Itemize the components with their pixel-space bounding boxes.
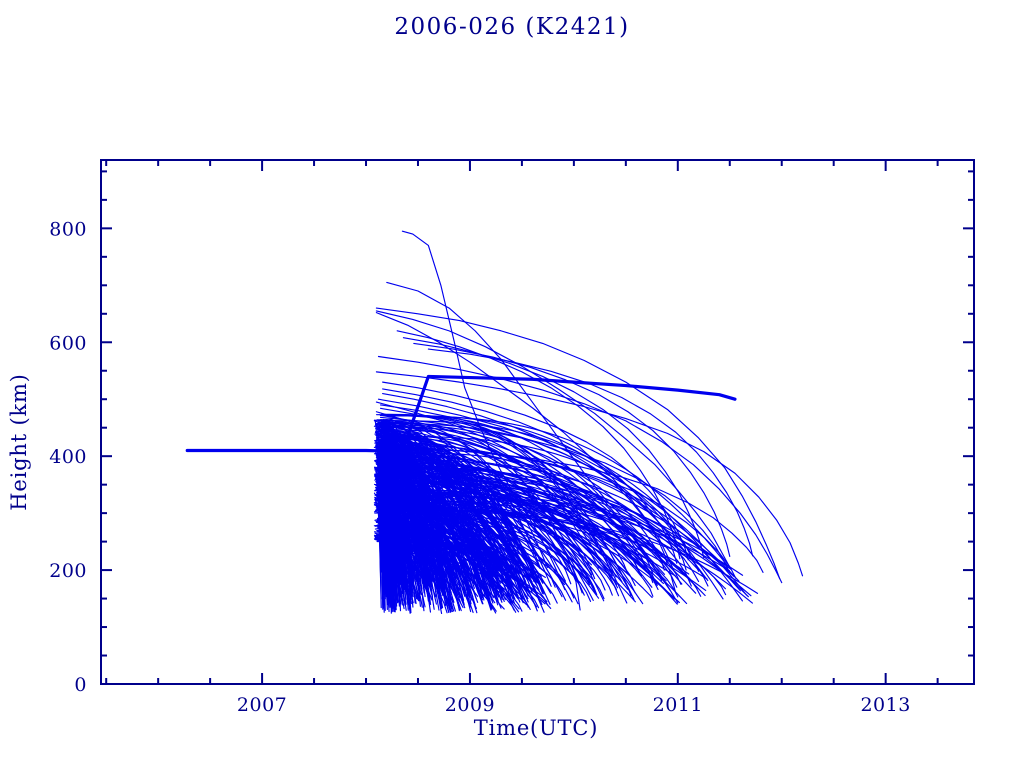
y-tick-label: 600 — [49, 332, 87, 354]
x-tick-label: 2011 — [653, 694, 703, 716]
x-tick-label: 2009 — [445, 694, 495, 716]
x-axis-tick-labels: 2007200920112013 — [237, 694, 911, 716]
x-tick-label: 2007 — [237, 694, 287, 716]
y-axis-title: Height (km) — [7, 373, 31, 510]
x-tick-label: 2013 — [860, 694, 910, 716]
y-tick-label: 200 — [49, 560, 87, 582]
decay-plot: 2007200920112013 0200400600800 Time(UTC)… — [0, 0, 1024, 768]
y-tick-label: 0 — [74, 674, 87, 696]
data-series-group — [187, 231, 802, 613]
y-tick-label: 400 — [49, 446, 87, 468]
y-axis-tick-labels: 0200400600800 — [49, 218, 87, 696]
x-axis-title: Time(UTC) — [474, 716, 598, 740]
y-tick-label: 800 — [49, 218, 87, 240]
figure-canvas: 2006-026 (K2421) 2007200920112013 020040… — [0, 0, 1024, 768]
